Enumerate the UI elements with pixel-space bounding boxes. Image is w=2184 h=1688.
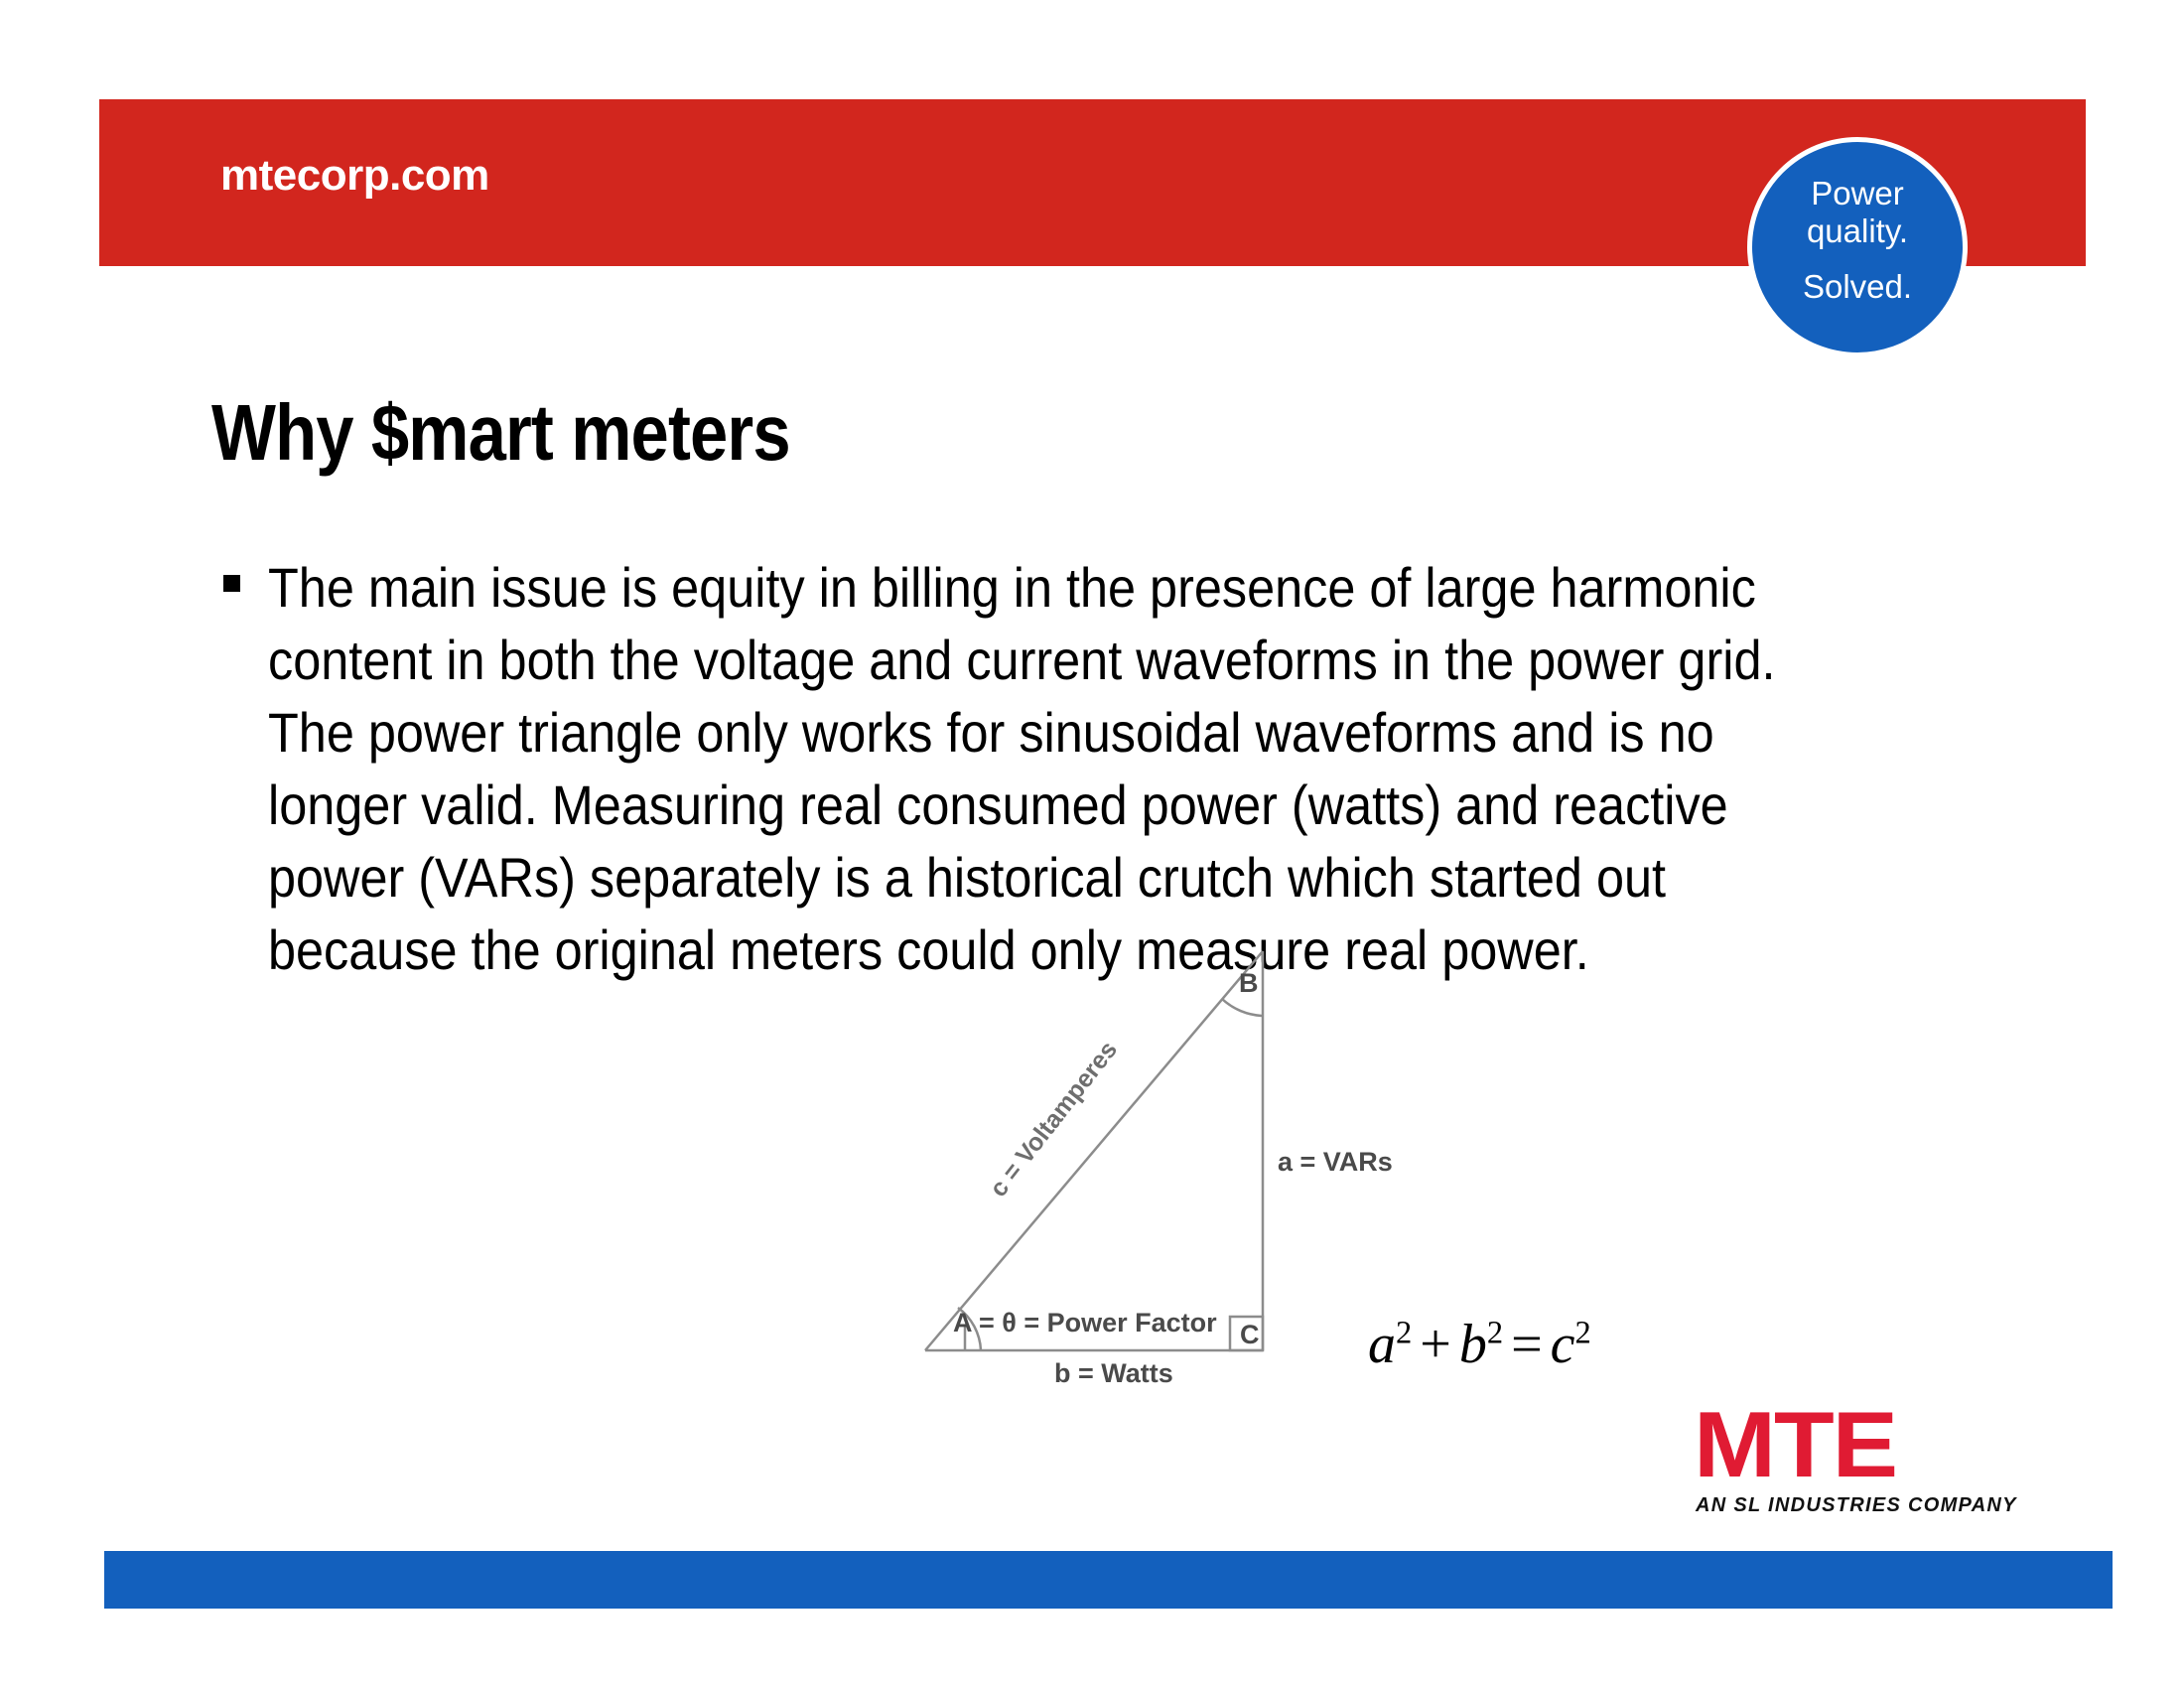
- mte-wordmark: MTE: [1694, 1398, 1896, 1491]
- page-title: Why $mart meters: [211, 387, 790, 479]
- vertex-b-label: B: [1239, 968, 1259, 999]
- angle-a-label: A = θ = Power Factor: [953, 1308, 1217, 1338]
- base-label: b = Watts: [1054, 1358, 1173, 1389]
- pythagorean-formula: a2+b2=c2: [1368, 1313, 1591, 1376]
- footer-bar: [104, 1551, 2113, 1609]
- hypotenuse-line: [925, 951, 1263, 1350]
- vertex-c-label: C: [1240, 1320, 1260, 1350]
- formula-b-exp: 2: [1487, 1315, 1503, 1350]
- badge-line-quality: quality.: [1752, 212, 1963, 250]
- badge-line-solved: Solved.: [1752, 268, 1963, 306]
- vertical-side-label: a = VARs: [1278, 1147, 1393, 1178]
- formula-a-exp: 2: [1396, 1315, 1412, 1350]
- formula-b: b: [1459, 1314, 1487, 1375]
- formula-plus: +: [1412, 1314, 1459, 1375]
- square-bullet-icon: [223, 575, 240, 592]
- mte-tagline: AN SL INDUSTRIES COMPANY: [1696, 1494, 2017, 1517]
- power-quality-badge: Power quality. Solved.: [1747, 137, 1968, 357]
- formula-c: c: [1551, 1314, 1575, 1375]
- body-paragraph: The main issue is equity in billing in t…: [268, 551, 1841, 986]
- formula-c-exp: 2: [1575, 1315, 1591, 1350]
- badge-line-power: Power: [1752, 175, 1963, 212]
- slide-canvas: mtecorp.com Power quality. Solved. Why $…: [0, 0, 2184, 1688]
- formula-a: a: [1368, 1314, 1396, 1375]
- angle-arc-b: [1222, 999, 1263, 1016]
- formula-equals: =: [1503, 1314, 1551, 1375]
- mte-logo: MTE AN SL INDUSTRIES COMPANY: [1688, 1398, 2025, 1517]
- site-url-text: mtecorp.com: [220, 151, 489, 201]
